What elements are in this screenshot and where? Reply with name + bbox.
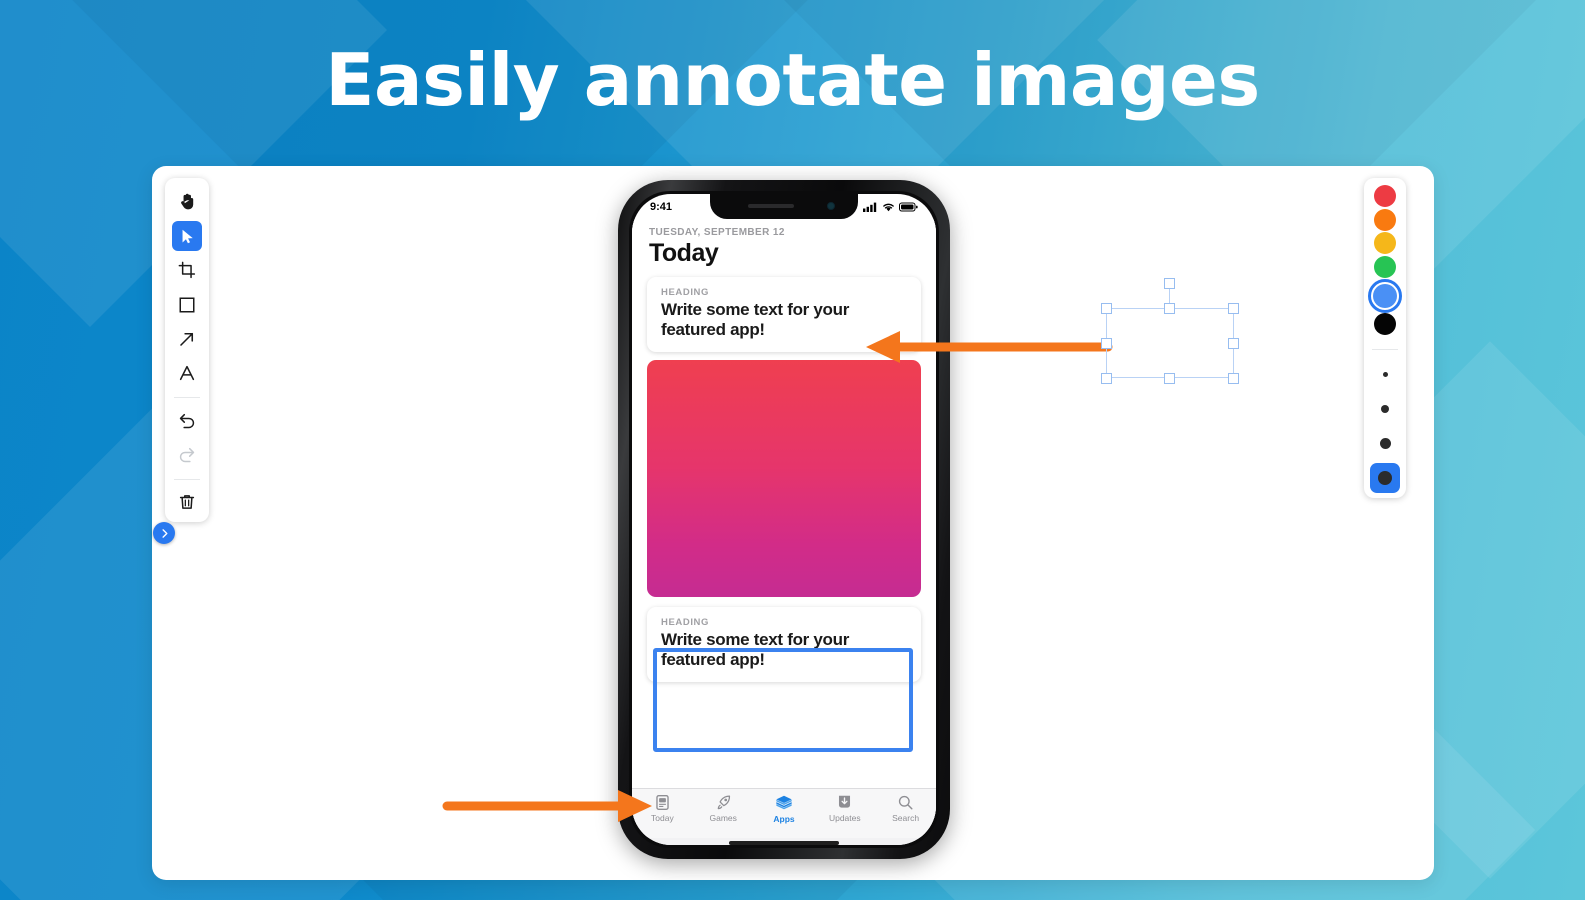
status-indicators: [863, 202, 918, 212]
wifi-icon: [882, 202, 895, 212]
page-title: Easily annotate images: [0, 44, 1585, 116]
tab-label: Apps: [773, 814, 794, 824]
trash-icon: [178, 493, 196, 511]
undo-icon: [178, 412, 196, 430]
magnifier-icon: [897, 794, 914, 811]
newspaper-icon: [654, 794, 671, 811]
card-title: Write some text for your featured app!: [661, 300, 907, 340]
delete-tool-button[interactable]: [172, 488, 202, 517]
square-icon: [178, 296, 196, 314]
redo-tool-button[interactable]: [172, 440, 202, 469]
download-box-icon: [836, 794, 853, 811]
editor-canvas[interactable]: 9:41: [152, 166, 1434, 880]
toolbar-divider: [1372, 349, 1398, 350]
toolbar-divider: [174, 397, 200, 398]
color-dot: [1374, 313, 1396, 335]
resize-handle-nw[interactable]: [1101, 303, 1112, 314]
crop-tool-button[interactable]: [172, 256, 202, 285]
chevron-right-icon: [159, 528, 170, 539]
color-swatch-black[interactable]: [1368, 313, 1402, 337]
tab-label: Today: [651, 813, 674, 823]
front-camera: [827, 202, 835, 210]
resize-handle-e[interactable]: [1228, 338, 1239, 349]
stroke-width-small[interactable]: [1370, 394, 1400, 424]
resize-handle-w[interactable]: [1101, 338, 1112, 349]
color-swatch-red[interactable]: [1368, 184, 1402, 208]
rotate-handle[interactable]: [1164, 278, 1175, 289]
left-toolbar[interactable]: [165, 178, 209, 522]
tab-games[interactable]: Games: [693, 794, 754, 823]
hero-image: [647, 360, 921, 597]
signal-icon: [863, 202, 878, 212]
tab-label: Games: [709, 813, 736, 823]
earpiece-speaker: [748, 204, 794, 208]
tab-today[interactable]: Today: [632, 794, 693, 823]
arrow-tool-button[interactable]: [172, 324, 202, 353]
resize-handle-ne[interactable]: [1228, 303, 1239, 314]
hand-tool-button[interactable]: [172, 187, 202, 216]
rocket-icon: [715, 794, 732, 811]
tab-updates[interactable]: Updates: [814, 794, 875, 823]
text-a-icon: [178, 364, 196, 382]
card-heading: HEADING: [661, 617, 907, 628]
stroke-dot: [1380, 438, 1391, 449]
cursor-icon: [179, 228, 196, 245]
hand-icon: [178, 192, 197, 211]
text-tool-button[interactable]: [172, 359, 202, 388]
status-time: 9:41: [650, 201, 672, 213]
tab-apps[interactable]: Apps: [754, 794, 815, 824]
stack-icon: [775, 794, 793, 812]
card-highlight-rect[interactable]: [653, 648, 913, 752]
rectangle-tool-button[interactable]: [172, 290, 202, 319]
cards-selection-handles[interactable]: [1106, 278, 1234, 378]
stroke-width-extra-small[interactable]: [1370, 359, 1400, 389]
toolbar-divider: [174, 479, 200, 480]
color-swatch-yellow[interactable]: [1368, 231, 1402, 255]
featured-card-1[interactable]: HEADING Write some text for your feature…: [647, 277, 921, 352]
stroke-dot: [1381, 405, 1389, 413]
tab-search[interactable]: Search: [875, 794, 936, 823]
color-swatch-blue[interactable]: [1368, 279, 1402, 313]
color-swatch-orange[interactable]: [1368, 208, 1402, 232]
tab-bar[interactable]: Today Games: [632, 788, 936, 838]
stroke-dot: [1378, 471, 1392, 485]
card-heading: HEADING: [661, 287, 907, 298]
redo-icon: [178, 446, 196, 464]
color-swatch-green[interactable]: [1368, 255, 1402, 279]
phone-notch: [710, 194, 858, 219]
arrow-up-right-icon: [178, 330, 196, 348]
crop-icon: [178, 261, 196, 279]
resize-handle-s[interactable]: [1164, 373, 1175, 384]
resize-handle-sw[interactable]: [1101, 373, 1112, 384]
battery-icon: [899, 202, 918, 212]
date-label: TUESDAY, SEPTEMBER 12: [632, 219, 936, 238]
tab-label: Search: [892, 813, 919, 823]
color-dot: [1374, 232, 1396, 254]
right-toolbar[interactable]: [1364, 178, 1406, 498]
expand-toolbar-button[interactable]: [153, 522, 175, 544]
color-dot: [1374, 256, 1396, 278]
phone-mockup: 9:41: [618, 180, 950, 859]
select-tool-button[interactable]: [172, 221, 202, 250]
resize-handle-n[interactable]: [1164, 303, 1175, 314]
color-dot: [1374, 209, 1396, 231]
today-heading: Today: [632, 238, 936, 277]
color-dot: [1374, 185, 1396, 207]
home-indicator: [729, 841, 839, 845]
selected-color-ring: [1368, 279, 1402, 313]
stroke-width-large[interactable]: [1370, 463, 1400, 493]
tab-label: Updates: [829, 813, 861, 823]
undo-tool-button[interactable]: [172, 406, 202, 435]
stroke-dot: [1383, 372, 1388, 377]
selection-box: [1106, 308, 1234, 378]
stroke-width-medium[interactable]: [1370, 429, 1400, 459]
resize-handle-se[interactable]: [1228, 373, 1239, 384]
